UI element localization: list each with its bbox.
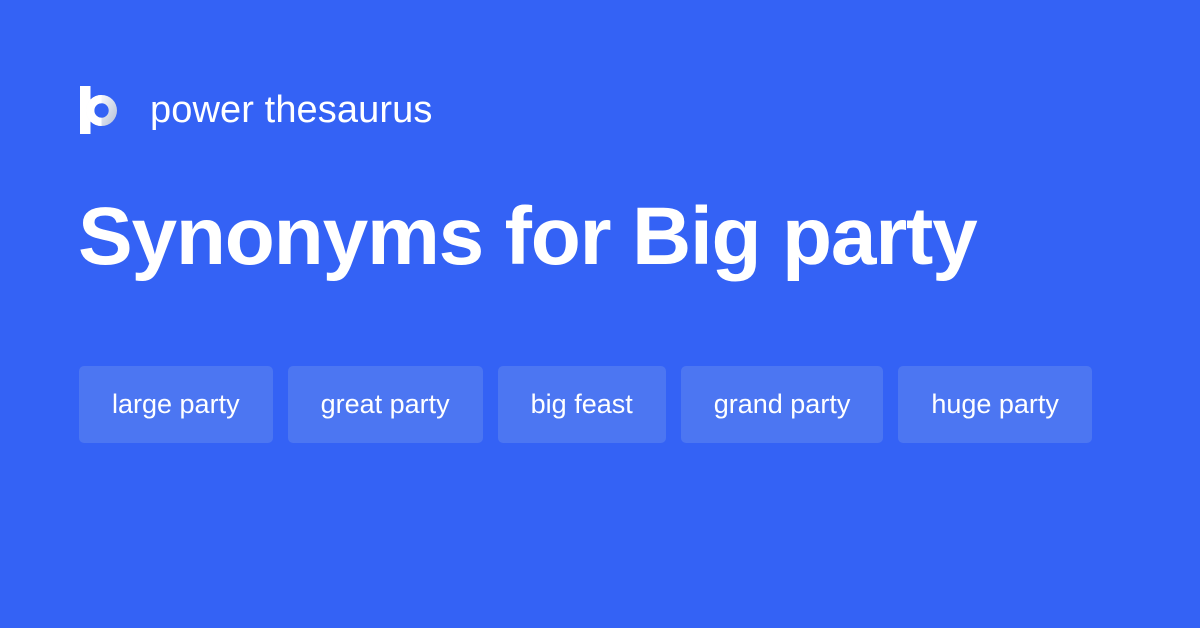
brand-logo[interactable]: power thesaurus bbox=[80, 82, 432, 138]
page-title: Synonyms for Big party bbox=[78, 196, 1118, 278]
synonym-chip[interactable]: big feast bbox=[498, 366, 666, 443]
synonym-chip[interactable]: huge party bbox=[898, 366, 1092, 443]
thesaurus-share-card: power thesaurus Synonyms for Big party l… bbox=[0, 0, 1200, 628]
synonym-chip[interactable]: large party bbox=[79, 366, 273, 443]
synonym-chip-list: large party great party big feast grand … bbox=[79, 366, 1129, 443]
synonym-chip[interactable]: grand party bbox=[681, 366, 884, 443]
brand-name-label: power thesaurus bbox=[150, 91, 432, 129]
power-thesaurus-b-logo-icon bbox=[80, 86, 124, 134]
synonym-chip[interactable]: great party bbox=[288, 366, 483, 443]
